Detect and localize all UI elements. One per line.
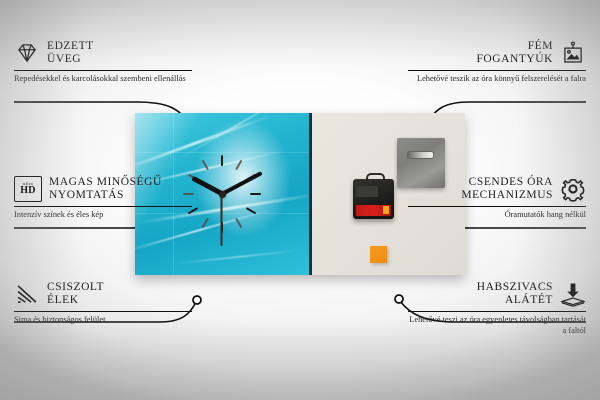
feature-foam-pad: HABSZIVACSALÁTÉT Lehetővé teszi az óra e…: [408, 281, 586, 336]
divider: [14, 70, 192, 71]
hand-pin: [219, 191, 226, 198]
divider: [408, 311, 586, 312]
feature-title: MAGAS MINŐSÉGŰNYOMTATÁS: [49, 176, 162, 202]
feature-title: HABSZIVACSALÁTÉT: [477, 281, 553, 307]
feature-description: Lehetővé teszi az óra egyenletes távolsá…: [408, 315, 586, 336]
mechanism-body: [356, 186, 378, 197]
foam-pad: [370, 246, 387, 263]
feature-title: CSISZOLTÉLEK: [47, 281, 104, 307]
feature-silent-mechanism: CSENDES ÓRAMECHANIZMUS Óramutatók hang n…: [408, 176, 586, 221]
hanger-slot: [407, 151, 434, 159]
anchor-edges: [193, 296, 201, 304]
quartz-mechanism: [353, 179, 394, 219]
picture-frame-hook-icon: [560, 40, 586, 66]
feature-polished-edges: CSISZOLTÉLEK Sima és biztonságos felület: [14, 281, 192, 326]
infographic-canvas: EDZETTÜVEG Repedésekkel és karcolásokkal…: [0, 0, 600, 400]
feature-title: EDZETTÜVEG: [47, 40, 94, 66]
ultra-hd-icon: ultraHD: [14, 176, 42, 202]
divider: [408, 70, 586, 71]
diamond-icon: [14, 40, 40, 66]
diagonal-lines-icon: [14, 281, 40, 307]
feature-high-quality-print: ultraHD MAGAS MINŐSÉGŰNYOMTATÁS Intenzív…: [14, 176, 192, 221]
feature-description: Intenzív színek és éles kép: [14, 210, 192, 221]
mechanism-loop: [366, 173, 385, 184]
feature-title: FÉMFOGANTYÚK: [476, 40, 553, 66]
anchor-foam: [395, 295, 403, 303]
battery: [356, 205, 391, 216]
divider: [408, 206, 586, 207]
down-arrow-pad-icon: [560, 281, 586, 307]
gear-icon: [560, 176, 586, 202]
divider: [14, 206, 192, 207]
feature-description: Lehetővé teszik az óra könnyű felszerelé…: [408, 74, 586, 85]
feature-metal-handles: FÉMFOGANTYÚK Lehetővé teszik az óra könn…: [408, 40, 586, 85]
divider: [14, 311, 192, 312]
feature-description: Óramutatók hang nélkül: [408, 210, 586, 221]
feature-title: CSENDES ÓRAMECHANIZMUS: [461, 176, 553, 202]
feature-description: Sima és biztonságos felület: [14, 315, 192, 326]
feature-tempered-glass: EDZETTÜVEG Repedésekkel és karcolásokkal…: [14, 40, 192, 85]
feature-description: Repedésekkel és karcolásokkal szembeni e…: [14, 74, 192, 85]
